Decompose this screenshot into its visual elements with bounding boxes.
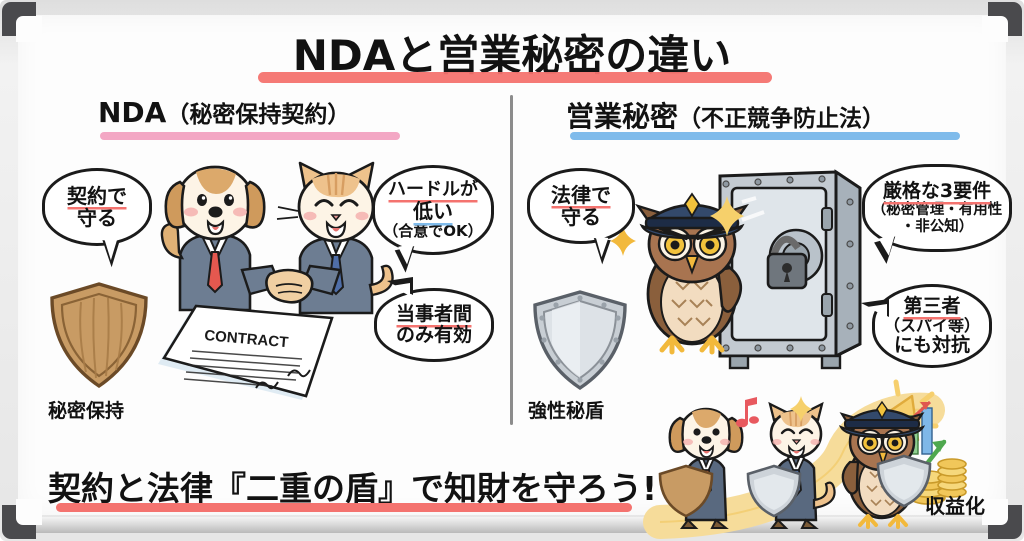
column-heading-nda-paren: （秘密保持契約） [166,102,350,128]
bubble-tail-inner [398,244,418,266]
column-heading-nda: NDA（秘密保持契約） [98,95,350,129]
bubble-protect-by-contract-line1: 契約で [67,185,127,207]
bottom-tagline-underline [56,503,632,512]
wooden-shield-icon [46,280,152,392]
cat-with-shield-illustration [752,404,842,530]
bubble-third-party-line2: （スパイ等） [884,317,980,335]
bubble-protect-by-contract-line2: 守る [77,207,117,229]
owl-with-shield-illustration [836,398,932,530]
monetize-label: 収益化 [925,490,985,519]
music-note-icon [735,396,761,428]
frame-corner-bottom-left [2,505,36,539]
sparkle-icon [790,396,812,422]
bubble-parties-only-line1: 当事者間 [396,304,472,325]
bubble-tail-inner [102,238,117,260]
bubble-three-requirements-line3: ・非公知） [901,219,974,235]
column-heading-trade-secret-main: 営業秘密 [566,100,678,133]
column-heading-nda-main: NDA [98,96,166,129]
bubble-protect-by-law-line1: 法律で [551,184,611,206]
bubble-protect-by-contract: 契約で 守る [42,168,152,246]
wooden-shield-label: 秘密保持 [48,396,124,423]
bubble-low-hurdle-line3: （合意でOK） [383,223,482,240]
bubble-parties-only: 当事者間 のみ有効 [374,288,494,362]
bubble-third-party-line3: にも対抗 [894,335,970,356]
bubble-protect-by-law-line2: 守る [561,206,601,228]
frame-corner-bottom-right [988,505,1022,539]
bubble-tail-inner [867,304,887,317]
title-underline [258,72,772,83]
bubble-third-party-line1: 第三者 [903,296,960,317]
bubble-three-requirements: 厳格な3要件 （秘密管理・有用性 ・非公知） [862,164,1012,252]
contract-document: CONTRACT [152,296,338,404]
bubble-third-party: 第三者 （スパイ等） にも対抗 [872,284,992,368]
bubble-tail-inner [391,283,410,296]
bubble-low-hurdle-line2: 低い [413,200,453,222]
column-heading-trade-secret: 営業秘密（不正競争防止法） [566,95,885,135]
bubble-low-hurdle: ハードルが 低い （合意でOK） [372,165,494,255]
sparkle-icon [710,196,744,236]
bubble-parties-only-line2: のみ有効 [396,325,472,346]
column-divider [510,95,513,425]
bubble-protect-by-law: 法律で 守る [527,168,635,244]
bubble-tail-inner [593,236,609,258]
column-heading-trade-secret-underline [570,132,960,140]
bubble-low-hurdle-line1: ハードルが [388,180,478,200]
bubble-three-requirements-line1: 厳格な3要件 [883,181,991,202]
whiteboard: NDAと営業秘密の違い NDA（秘密保持契約） 営業秘密（不正競争防止法） [0,0,1024,541]
metal-shield-icon [530,288,630,394]
bubble-three-requirements-line2: （秘密管理・有用性 [872,202,1003,218]
metal-shield-label: 強性秘盾 [528,396,604,423]
column-heading-trade-secret-paren: （不正競争防止法） [678,106,885,132]
column-heading-nda-underline [100,132,400,140]
